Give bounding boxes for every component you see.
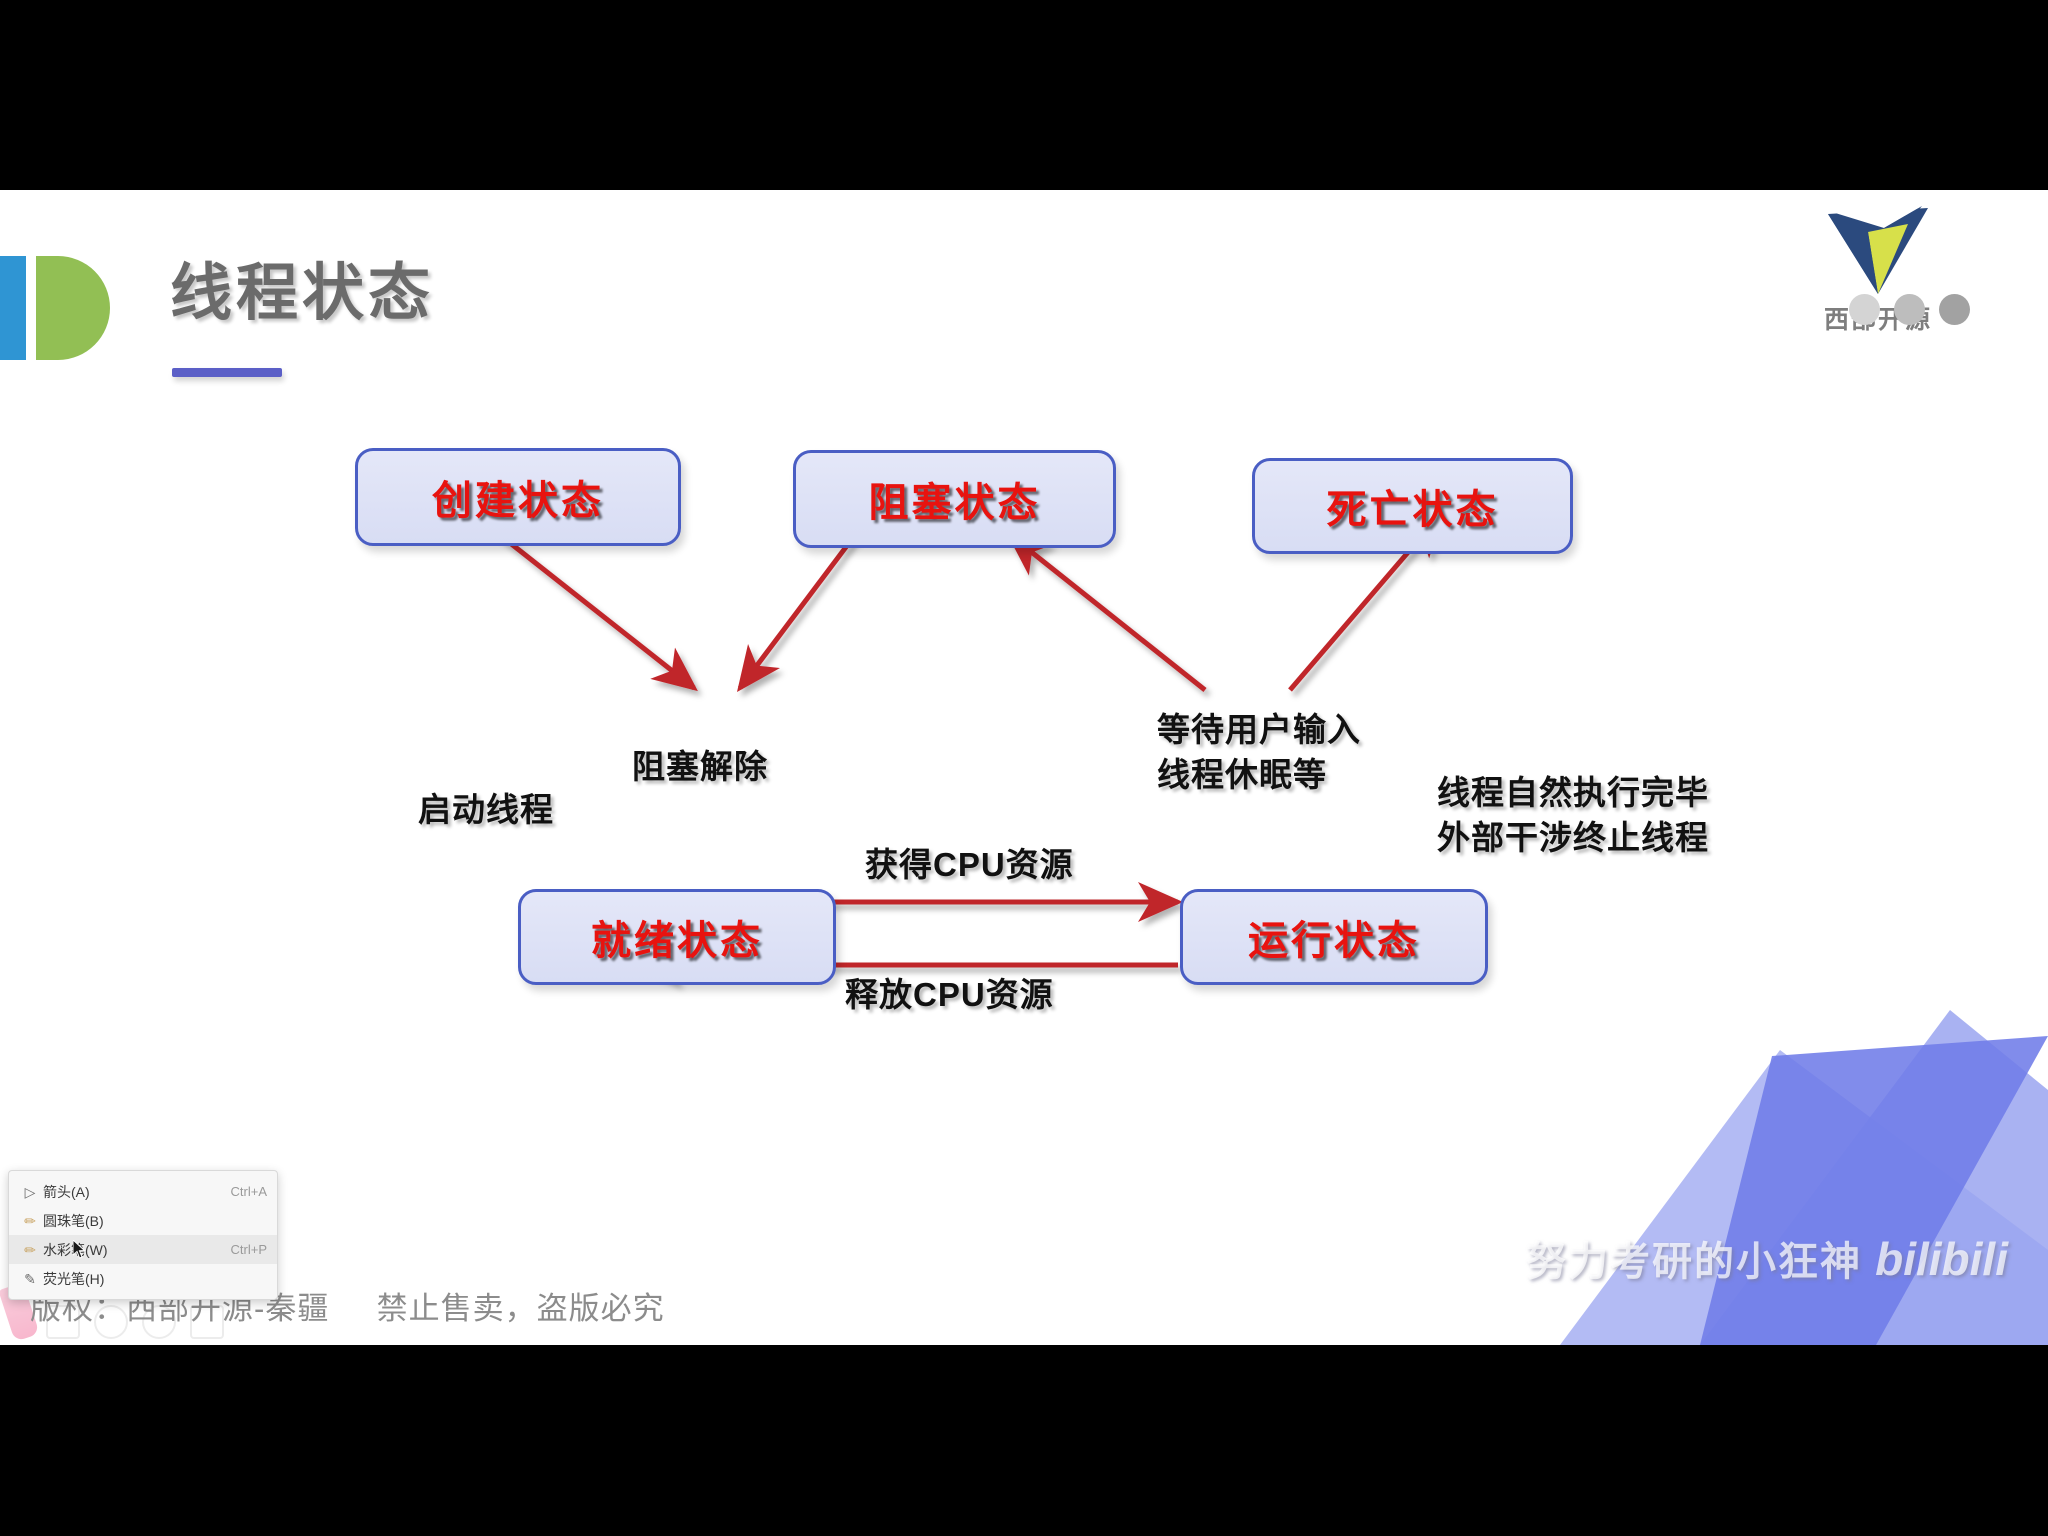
arrow-created-to-ready (500, 535, 694, 688)
copyright-notice: 禁止售卖，盗版必究 (377, 1291, 665, 1326)
state-box-blocked-label: 阻塞状态 (869, 470, 1041, 528)
cursor-arrow-icon: ▷ (17, 1185, 43, 1199)
arrow-layer (0, 190, 2048, 1345)
state-box-ready[interactable]: 就绪状态 (518, 889, 836, 985)
state-box-dead-label: 死亡状态 (1327, 477, 1499, 535)
menu-item-highlighter-label: 荧光笔(H) (43, 1269, 267, 1289)
menu-item-watercolor-pen-label: 水彩笔(W) (43, 1240, 231, 1260)
letterbox-top (0, 0, 2048, 190)
state-box-created-label: 创建状态 (432, 468, 604, 526)
presentation-slide: 线程状态 西部开源 (0, 190, 2048, 1345)
screen: 线程状态 西部开源 (0, 0, 2048, 1536)
menu-item-ballpoint-pen[interactable]: ✏ 圆珠笔(B) (9, 1206, 277, 1235)
edge-label-unblock: 阻塞解除 (632, 747, 768, 787)
menu-item-arrow-label: 箭头(A) (43, 1182, 231, 1202)
ballpoint-pen-icon: ✏ (17, 1214, 43, 1228)
edge-label-acquire-cpu: 获得CPU资源 (865, 845, 1074, 885)
state-box-ready-label: 就绪状态 (591, 908, 763, 966)
edge-label-terminate-line1: 线程自然执行完毕 (1437, 773, 1709, 813)
menu-item-watercolor-pen-accel: Ctrl+P (231, 1242, 267, 1257)
watermark-text: 努力考研的小狂神 (1526, 1240, 1862, 1284)
edge-label-wait-input-line2: 线程休眠等 (1157, 755, 1327, 795)
watercolor-pen-icon: ✏ (17, 1243, 43, 1257)
mouse-cursor-icon (73, 1240, 87, 1260)
edge-label-release-cpu: 释放CPU资源 (845, 975, 1054, 1015)
bilibili-logo: bilibili (1875, 1233, 2008, 1285)
video-watermark: 努力考研的小狂神 bilibili (1526, 1229, 2008, 1287)
edge-label-wait-input-line1: 等待用户输入 (1157, 710, 1361, 750)
highlighter-icon: ✎ (17, 1272, 43, 1286)
menu-item-arrow[interactable]: ▷ 箭头(A) Ctrl+A (9, 1177, 277, 1206)
edge-label-start-thread: 启动线程 (418, 790, 554, 830)
state-box-blocked[interactable]: 阻塞状态 (793, 450, 1116, 548)
state-box-dead[interactable]: 死亡状态 (1252, 458, 1573, 554)
menu-item-highlighter[interactable]: ✎ 荧光笔(H) (9, 1264, 277, 1293)
arrow-blocked-to-ready (740, 535, 855, 688)
pen-tool-context-menu[interactable]: ▷ 箭头(A) Ctrl+A ✏ 圆珠笔(B) ✏ 水彩笔(W) Ctrl+P … (8, 1170, 278, 1300)
menu-item-arrow-accel: Ctrl+A (231, 1184, 267, 1199)
thread-state-diagram: 创建状态 阻塞状态 死亡状态 就绪状态 运行状态 启动线程 阻塞解除 等待用户输… (0, 190, 2048, 1345)
state-box-running-label: 运行状态 (1248, 908, 1420, 966)
letterbox-bottom (0, 1345, 2048, 1536)
state-box-created[interactable]: 创建状态 (355, 448, 681, 546)
state-box-running[interactable]: 运行状态 (1180, 889, 1488, 985)
menu-item-ballpoint-pen-label: 圆珠笔(B) (43, 1211, 267, 1231)
menu-item-watercolor-pen[interactable]: ✏ 水彩笔(W) Ctrl+P (9, 1235, 277, 1264)
arrow-running-to-blocked (1010, 535, 1205, 690)
edge-label-terminate-line2: 外部干涉终止线程 (1437, 818, 1709, 858)
